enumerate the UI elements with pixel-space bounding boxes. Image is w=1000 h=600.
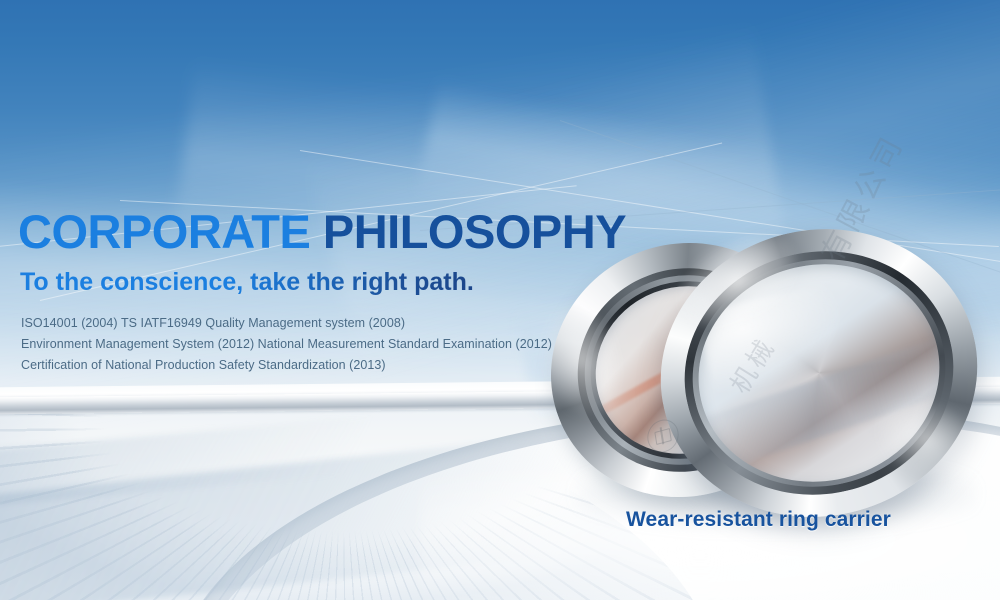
product-caption: Wear-resistant ring carrier: [626, 508, 891, 532]
page-title: CORPORATE PHILOSOPHY: [18, 208, 638, 255]
page-subtitle: To the conscience, take the right path.: [20, 269, 638, 297]
headline-block: CORPORATE PHILOSOPHY To the conscience, …: [18, 208, 638, 376]
certification-line: Environment Management System (2012) Nat…: [21, 334, 638, 355]
headline-word-primary: CORPORATE: [18, 205, 310, 258]
certification-line: Certification of National Production Saf…: [21, 355, 638, 376]
headline-word-secondary: PHILOSOPHY: [323, 205, 626, 258]
certification-line: ISO14001 (2004) TS IATF16949 Quality Man…: [21, 313, 638, 334]
certifications-list: ISO14001 (2004) TS IATF16949 Quality Man…: [21, 313, 638, 376]
corporate-philosophy-banner: 有限公司 机械 CORPORATE PHILOSOPHY To the cons…: [0, 0, 1000, 600]
